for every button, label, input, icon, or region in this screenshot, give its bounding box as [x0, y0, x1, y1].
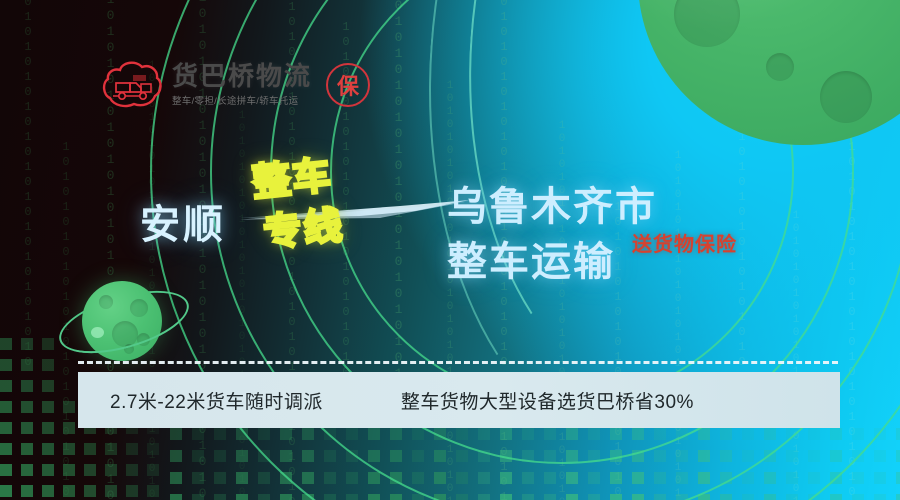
- pixel-block: [214, 472, 226, 484]
- pixel-block: [192, 494, 204, 500]
- pixel-block: [742, 428, 754, 440]
- pixel-block: [456, 472, 468, 484]
- pixel-block: [42, 485, 54, 497]
- pixel-block: [654, 472, 666, 484]
- pixel-block: [63, 443, 75, 455]
- pixel-block: [500, 450, 512, 462]
- pixel-block: [808, 450, 820, 462]
- pixel-block: [478, 472, 490, 484]
- pixel-block: [236, 494, 248, 500]
- pixel-block: [42, 338, 54, 350]
- pixel-block: [236, 472, 248, 484]
- pixel-block: [346, 450, 358, 462]
- pixel-block: [368, 450, 380, 462]
- pixel-block: [412, 450, 424, 462]
- pixel-block: [126, 464, 138, 476]
- pixel-block: [0, 422, 12, 434]
- pixel-block: [0, 485, 12, 497]
- pixel-block: [21, 485, 33, 497]
- pixel-block: [478, 494, 490, 500]
- brand-logo[interactable]: 货巴桥物流 整车/零担/长途拼车/轿车托运 保: [100, 58, 370, 112]
- pixel-block: [390, 494, 402, 500]
- pixel-block: [280, 472, 292, 484]
- origin-city: 安顺: [140, 192, 226, 250]
- destination-service: 整车运输: [447, 235, 657, 290]
- pixel-block: [434, 428, 446, 440]
- pixel-block: [192, 472, 204, 484]
- pixel-block: [786, 428, 798, 440]
- pixel-block: [368, 472, 380, 484]
- pixel-block: [500, 472, 512, 484]
- pixel-block: [522, 494, 534, 500]
- pixel-block: [0, 380, 12, 392]
- pixel-block: [170, 428, 182, 440]
- pixel-block: [896, 450, 900, 462]
- pixel-block: [126, 485, 138, 497]
- pixel-block: [258, 494, 270, 500]
- pixel-block: [368, 428, 380, 440]
- pixel-block: [258, 428, 270, 440]
- pixel-block: [764, 472, 776, 484]
- route-type-tag: 整车 专线: [251, 154, 373, 269]
- pixel-block: [21, 380, 33, 392]
- binary-column: 10101010101010101010101010: [22, 0, 34, 370]
- pixel-block: [390, 428, 402, 440]
- pixel-block: [852, 472, 864, 484]
- pixel-block: [786, 472, 798, 484]
- pixel-block: [566, 472, 578, 484]
- pixel-block: [63, 401, 75, 413]
- pixel-block: [896, 428, 900, 440]
- pixel-block: [544, 494, 556, 500]
- pixel-block: [808, 428, 820, 440]
- pixel-block: [324, 428, 336, 440]
- pixel-block: [0, 464, 12, 476]
- pixel-block: [764, 494, 776, 500]
- insurance-badge: 保: [326, 63, 370, 107]
- pixel-block: [830, 428, 842, 440]
- pixel-block: [720, 472, 732, 484]
- pixel-block: [63, 464, 75, 476]
- pixel-block: [105, 464, 117, 476]
- pixel-block: [346, 494, 358, 500]
- pixel-block: [105, 443, 117, 455]
- pixel-block: [698, 450, 710, 462]
- pixel-block: [522, 450, 534, 462]
- pixel-block: [830, 494, 842, 500]
- pixel-block: [390, 472, 402, 484]
- pixel-block: [478, 450, 490, 462]
- pixel-block: [786, 494, 798, 500]
- pixel-block: [258, 472, 270, 484]
- pixel-block: [852, 494, 864, 500]
- pixel-block: [170, 472, 182, 484]
- promo-poster: 1010101010101010101010101010101010101010…: [0, 0, 900, 500]
- pixel-block: [610, 450, 622, 462]
- pixel-block: [456, 450, 468, 462]
- pixel-block: [368, 494, 380, 500]
- pixel-block: [896, 472, 900, 484]
- pixel-block: [42, 443, 54, 455]
- pixel-block: [0, 443, 12, 455]
- truck-in-cloud-icon: [100, 58, 164, 112]
- pixel-block: [147, 443, 159, 455]
- route-tag-line2: 专线: [262, 205, 371, 253]
- pixel-block: [346, 428, 358, 440]
- pixel-block: [676, 450, 688, 462]
- pixel-block: [676, 472, 688, 484]
- pixel-block: [63, 422, 75, 434]
- pixel-block: [544, 472, 556, 484]
- pixel-block: [434, 494, 446, 500]
- pixel-block: [280, 450, 292, 462]
- pixel-block: [588, 472, 600, 484]
- pixel-block: [258, 450, 270, 462]
- pixel-block: [390, 450, 402, 462]
- pixel-block: [610, 494, 622, 500]
- pixel-block: [214, 450, 226, 462]
- pixel-block: [544, 428, 556, 440]
- pixel-block: [192, 450, 204, 462]
- pixel-block: [324, 472, 336, 484]
- pixel-block: [236, 428, 248, 440]
- info-banner: 2.7米-22米货车随时调派 整车货物大型设备选货巴桥省30%: [78, 372, 840, 428]
- pixel-block: [544, 450, 556, 462]
- pixel-block: [698, 494, 710, 500]
- pixel-block: [21, 422, 33, 434]
- pixel-block: [412, 472, 424, 484]
- pixel-block: [84, 464, 96, 476]
- pixel-block: [742, 450, 754, 462]
- pixel-block: [21, 401, 33, 413]
- pixel-block: [720, 450, 732, 462]
- pixel-block: [214, 428, 226, 440]
- banner-left-text: 2.7米-22米货车随时调派: [110, 387, 323, 414]
- pixel-block: [742, 472, 754, 484]
- pixel-block: [896, 494, 900, 500]
- pixel-block: [478, 428, 490, 440]
- pixel-block: [0, 338, 12, 350]
- pixel-block: [676, 494, 688, 500]
- pixel-block: [147, 464, 159, 476]
- pixel-block: [412, 428, 424, 440]
- pixel-block: [0, 359, 12, 371]
- pixel-block: [742, 494, 754, 500]
- pixel-block: [192, 428, 204, 440]
- pixel-block: [84, 443, 96, 455]
- pixel-block: [830, 472, 842, 484]
- pixel-block: [346, 472, 358, 484]
- pixel-block: [522, 428, 534, 440]
- pixel-block: [302, 472, 314, 484]
- pixel-block: [852, 428, 864, 440]
- insurance-note: 送货物保险: [632, 228, 737, 257]
- pixel-block: [21, 359, 33, 371]
- brand-name: 货巴桥物流: [172, 63, 312, 90]
- pixel-block: [764, 450, 776, 462]
- pixel-block: [808, 494, 820, 500]
- pixel-block: [830, 450, 842, 462]
- pixel-block: [170, 450, 182, 462]
- pixel-block: [874, 428, 886, 440]
- pixel-block: [500, 428, 512, 440]
- pixel-block: [302, 494, 314, 500]
- pixel-block: [324, 494, 336, 500]
- pixel-block: [0, 401, 12, 413]
- pixel-block: [610, 472, 622, 484]
- pixel-block: [874, 494, 886, 500]
- pixel-block: [302, 428, 314, 440]
- binary-column: 10101010101010101010101010101010101010: [146, 60, 157, 500]
- pixel-block: [434, 450, 446, 462]
- pixel-block: [522, 472, 534, 484]
- pixel-block: [63, 485, 75, 497]
- pixel-block: [21, 464, 33, 476]
- pixel-block: [632, 472, 644, 484]
- pixel-block: [412, 494, 424, 500]
- pixel-block: [21, 338, 33, 350]
- pixel-block: [632, 494, 644, 500]
- pixel-block: [588, 450, 600, 462]
- pixel-block: [874, 450, 886, 462]
- binary-column: 10101010101010101010101010101010101010: [236, 110, 247, 500]
- brand-subtitle: 整车/零担/长途拼车/轿车托运: [172, 93, 312, 107]
- pixel-grid-bottom: [170, 428, 900, 500]
- pixel-block: [280, 494, 292, 500]
- pixel-block: [698, 472, 710, 484]
- pixel-block: [147, 485, 159, 497]
- pixel-block: [434, 472, 446, 484]
- pixel-block: [500, 494, 512, 500]
- destination-city: 乌鲁木齐市: [447, 180, 657, 235]
- pixel-block: [456, 494, 468, 500]
- pixel-block: [588, 494, 600, 500]
- dashed-divider: [78, 361, 838, 364]
- pixel-block: [302, 450, 314, 462]
- pixel-block: [566, 450, 578, 462]
- pixel-block: [214, 494, 226, 500]
- pixel-block: [42, 464, 54, 476]
- pixel-block: [42, 422, 54, 434]
- pixel-block: [42, 380, 54, 392]
- pixel-block: [324, 450, 336, 462]
- destination-block: 乌鲁木齐市 整车运输: [447, 180, 657, 290]
- pixel-block: [764, 428, 776, 440]
- pixel-block: [720, 494, 732, 500]
- pixel-block: [874, 472, 886, 484]
- pixel-block: [280, 428, 292, 440]
- pixel-block: [808, 472, 820, 484]
- pixel-block: [654, 494, 666, 500]
- pixel-block: [786, 450, 798, 462]
- pixel-block: [126, 443, 138, 455]
- pixel-block: [21, 443, 33, 455]
- pixel-block: [42, 359, 54, 371]
- pixel-block: [84, 485, 96, 497]
- pixel-block: [566, 494, 578, 500]
- pixel-block: [456, 428, 468, 440]
- route-tag-line1: 整车: [251, 154, 366, 203]
- pixel-block: [170, 494, 182, 500]
- pixel-block: [852, 450, 864, 462]
- banner-right-text: 整车货物大型设备选货巴桥省30%: [401, 387, 694, 414]
- pixel-block: [42, 401, 54, 413]
- pixel-block: [105, 485, 117, 497]
- pixel-block: [236, 450, 248, 462]
